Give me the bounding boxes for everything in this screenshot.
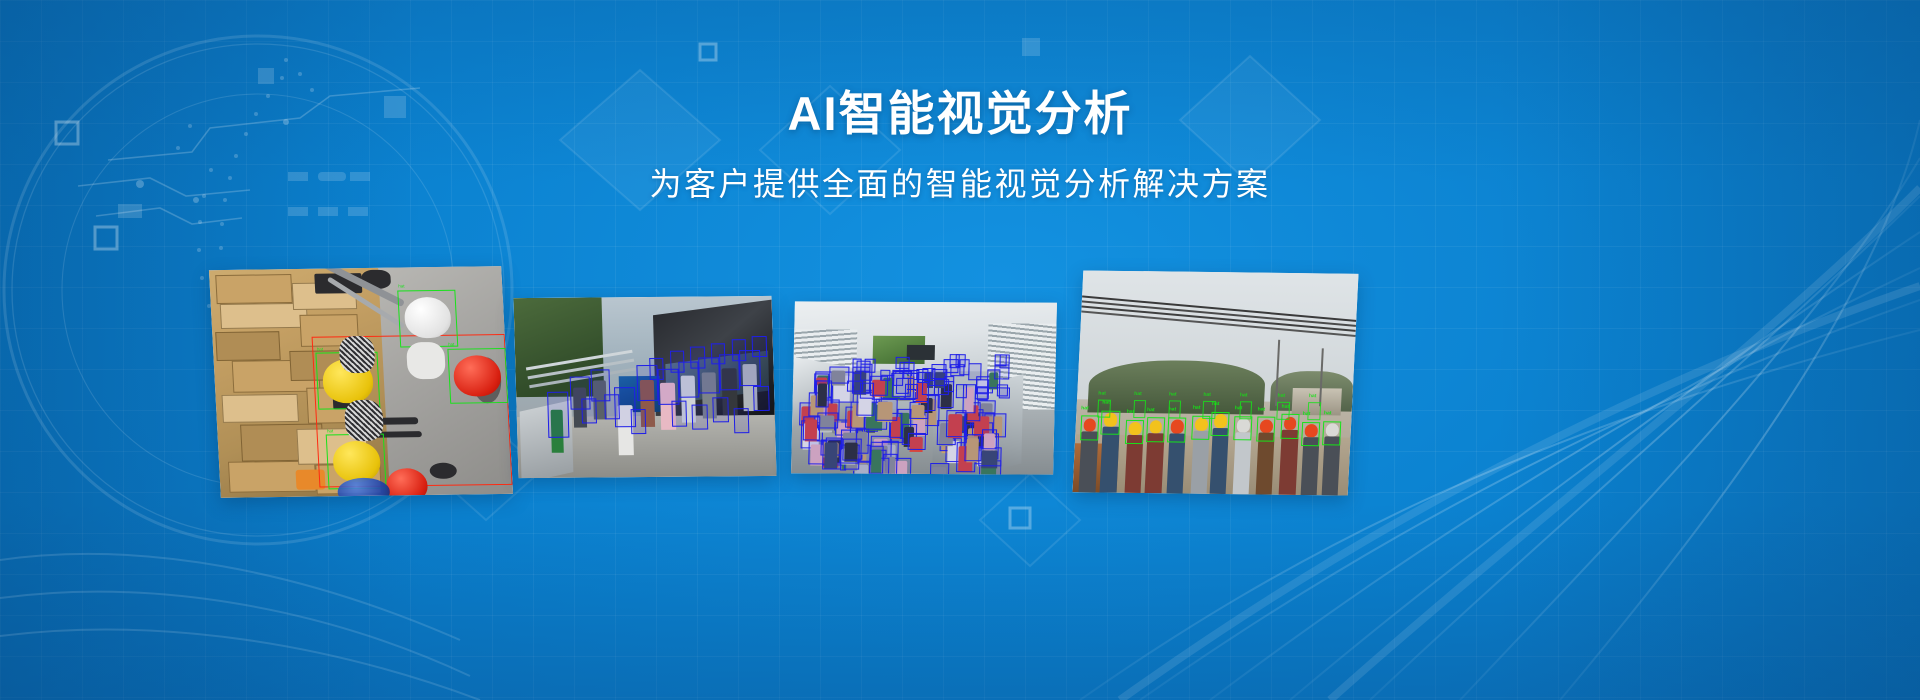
detection-box (959, 359, 969, 375)
detection-box (692, 404, 708, 429)
detection-label: hat (327, 429, 333, 433)
detection-box (949, 354, 960, 369)
detection-label: hat (1240, 393, 1248, 398)
detection-box (733, 408, 749, 433)
detection-box (649, 358, 664, 380)
detection-box (1000, 354, 1010, 369)
detection-box (1146, 417, 1165, 442)
detection-box (1191, 415, 1210, 440)
detection-box (869, 446, 885, 474)
detection-box (859, 382, 874, 398)
detection-box (860, 364, 872, 381)
detection-box (690, 347, 705, 369)
detection-box (670, 351, 685, 373)
detection-box (547, 391, 569, 438)
person-figure (1190, 431, 1210, 496)
person-figure (1166, 433, 1186, 495)
detection-box (802, 416, 820, 440)
detection-label: hat (1134, 392, 1142, 397)
detection-box (671, 401, 687, 426)
detection-label: hat (1081, 406, 1089, 411)
person-figure (1279, 430, 1299, 496)
detection-box (1239, 401, 1253, 419)
person-figure (1209, 428, 1229, 495)
detection-box (956, 384, 968, 399)
detection-box (1167, 418, 1186, 443)
detection-box (917, 372, 931, 383)
person-figure (1144, 433, 1164, 496)
detection-box (981, 430, 997, 449)
warehouse-scene: hat hat hat hat (209, 266, 513, 498)
detection-box (1233, 416, 1252, 441)
detection-label: hat (1309, 394, 1317, 399)
detection-box (604, 394, 620, 419)
detection-box (753, 386, 769, 411)
detection-label: hat (1147, 408, 1155, 413)
detection-box (1202, 401, 1216, 419)
detection-label: hat (1324, 411, 1332, 416)
detection-label: hat (398, 285, 404, 289)
detection-box (842, 439, 862, 461)
detection-box (1168, 400, 1182, 418)
detection-box (893, 371, 903, 386)
detection-box (933, 380, 948, 395)
detection-box (968, 363, 982, 380)
person-figure (1078, 431, 1098, 495)
detection-box (447, 348, 508, 403)
detection-box (909, 402, 929, 419)
detection-box (815, 380, 829, 407)
detection-label: hat (1193, 406, 1201, 411)
detection-label: hat (1258, 407, 1266, 412)
gallery-photo-footbridge[interactable] (513, 296, 776, 478)
detection-box (896, 357, 910, 369)
detection-box (630, 409, 646, 434)
detection-box (1322, 421, 1341, 446)
detection-box (1097, 399, 1111, 417)
person-figure (1124, 435, 1144, 496)
detection-box (875, 398, 897, 421)
detection-box (1080, 416, 1099, 441)
gallery-photo-platform[interactable] (791, 301, 1057, 474)
sample-image-gallery: hat hat hat hat (0, 250, 1920, 540)
detection-box (397, 290, 458, 348)
banner-headline-block: AI智能视觉分析 为客户提供全面的智能视觉分析解决方案 (0, 0, 1920, 203)
detection-box (999, 388, 1010, 399)
gallery-photo-warehouse[interactable]: hat hat hat hat (209, 266, 513, 498)
detection-box (1301, 422, 1320, 447)
detection-label: hat (1277, 394, 1285, 399)
person-figure (1232, 432, 1252, 496)
platform-scene (791, 301, 1057, 474)
page-title: AI智能视觉分析 (0, 0, 1920, 140)
detection-label: hat (1098, 391, 1106, 396)
detection-box (1125, 419, 1144, 444)
detection-box (1256, 417, 1275, 442)
gallery-photo-outdoor-hats[interactable]: hathathathathathathathathathathathathath… (1072, 270, 1358, 495)
detection-box (1276, 401, 1290, 419)
detection-box (907, 433, 926, 450)
detection-label: hat (1169, 392, 1177, 397)
detection-box (881, 370, 891, 381)
detection-box (731, 339, 746, 361)
detection-box (1308, 402, 1322, 420)
detection-box (930, 463, 950, 474)
detection-label: hat (317, 347, 323, 351)
detection-label: hat (1203, 393, 1211, 398)
detection-box (581, 398, 597, 423)
ai-vision-banner: AI智能视觉分析 为客户提供全面的智能视觉分析解决方案 (0, 0, 1920, 700)
detection-box (752, 336, 767, 358)
detection-box (711, 343, 726, 365)
person-figure (1100, 426, 1120, 493)
detection-label: hat (448, 343, 454, 347)
detection-box (976, 387, 988, 401)
detection-box (712, 397, 728, 422)
outdoor-hat-scene: hathathathathathathathathathathathathath… (1072, 270, 1358, 495)
detection-box (1133, 400, 1147, 418)
footbridge-scene (513, 296, 776, 478)
detection-box (945, 410, 966, 437)
page-subtitle: 为客户提供全面的智能视觉分析解决方案 (0, 140, 1920, 203)
detection-box (904, 384, 918, 399)
person-figure (1255, 432, 1275, 495)
